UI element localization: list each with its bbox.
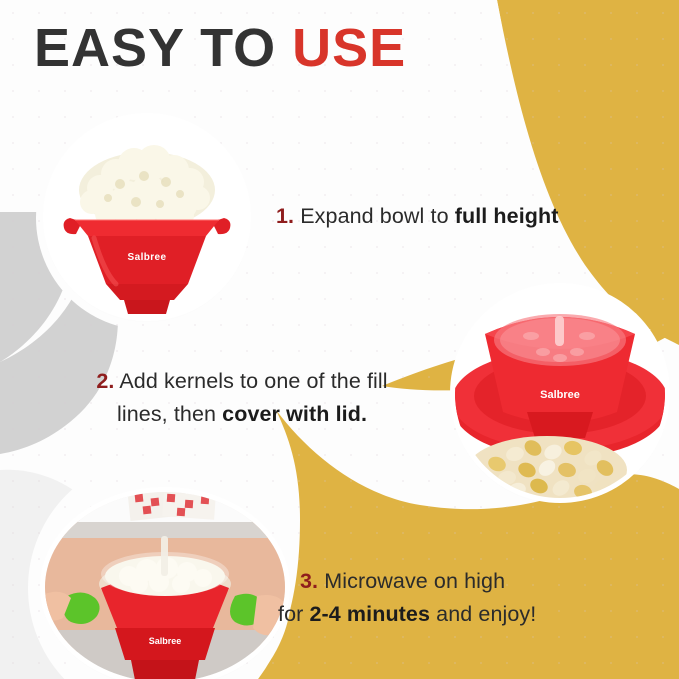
photo-bowl-with-lid-and-kernels: Salbree	[455, 288, 665, 498]
title-part-use: USE	[292, 18, 406, 78]
step-2-text: 2. Add kernels to one of the fill lines,…	[62, 365, 422, 430]
step-2-line2-normal: lines, then	[117, 402, 222, 426]
step-2-line2-bold: cover with lid.	[222, 402, 367, 426]
brand-label-photo2: Salbree	[540, 389, 580, 401]
checkered-napkins	[128, 492, 216, 521]
step-2-line1: Add kernels to one of the fill	[119, 369, 387, 393]
brand-label-photo1: Salbree	[128, 252, 167, 263]
step-1-number: 1.	[276, 204, 294, 228]
step-3-number: 3.	[300, 569, 318, 593]
lid-handle-photo3	[161, 536, 168, 576]
lid-handle	[555, 316, 564, 346]
title-part-easy-to: EASY TO	[34, 18, 292, 78]
step-3-line1: Microwave on high	[324, 569, 505, 593]
step-2-number: 2.	[96, 369, 114, 393]
step-1-bold: full height	[455, 204, 559, 228]
step-3-text: 3. Microwave on high for 2-4 minutes and…	[300, 565, 630, 630]
photo-expanded-bowl-with-popcorn: Salbree	[48, 118, 246, 316]
step-3-line2-bold: 2-4 minutes	[309, 602, 430, 626]
page-title: EASY TO USE	[34, 20, 406, 77]
step-1-text: 1. Expand bowl to full height	[276, 200, 559, 233]
step-1-normal: Expand bowl to	[300, 204, 455, 228]
brand-label-photo3: Salbree	[149, 636, 182, 646]
oven-mitt-left	[45, 592, 100, 624]
infographic-canvas: EASY TO USE	[0, 0, 679, 679]
step-3-line2-suffix: and enjoy!	[430, 602, 536, 626]
step-3-line2-prefix: for	[278, 602, 309, 626]
photo-microwave-removal: Salbree	[45, 492, 285, 679]
